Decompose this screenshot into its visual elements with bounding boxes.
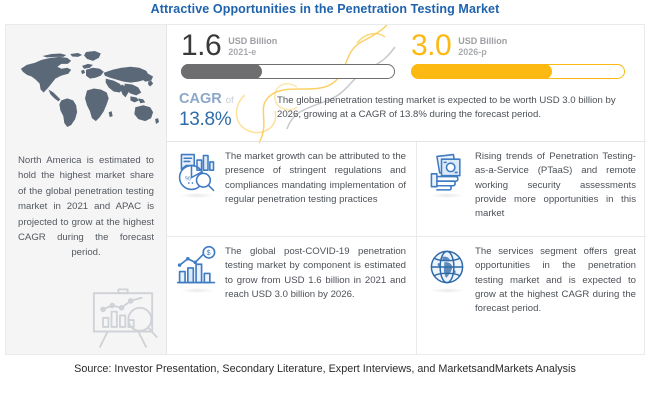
cagr-of-label: of [226,95,234,106]
insight-card-growth-text: The global post-COVID-19 penetration tes… [225,245,406,349]
cagr-box: CAGR of 13.8% [167,89,277,130]
stat-2026-value: 3.0 [411,31,451,61]
left-panel-description: North America is estimated to hold the h… [18,153,154,261]
insight-card-ptaas-text: Rising trends of Penetration Testing-as-… [475,150,636,230]
stat-2021-unit: USD Billion [228,36,277,47]
right-content-column: 1.6 USD Billion 2021-e 3.0 USD Billion 2… [166,25,645,354]
svg-text:$: $ [206,248,210,257]
cagr-label: CAGR [179,91,222,107]
cagr-value: 13.8% [179,109,277,130]
infographic-page: Attractive Opportunities in the Penetrat… [0,0,650,404]
world-map-icon [12,37,160,141]
progress-bar-2021-fill [181,64,262,79]
stat-2026: 3.0 USD Billion 2026-p [411,31,507,61]
svg-text:%: % [185,175,191,182]
content-frame: North America is estimated to hold the h… [5,24,645,355]
cagr-label-line: CAGR of [179,91,277,109]
stat-2026-year: 2026-p [458,47,507,58]
growth-bar-chart-dollar-icon: $ [175,245,219,289]
stat-2021: 1.6 USD Billion 2021-e [181,31,277,61]
insight-card-ptaas: Rising trends of Penetration Testing-as-… [417,142,646,237]
insight-card-growth: $ The global post-COVID-19 penetration t… [167,237,417,355]
stat-2021-year: 2021-e [228,47,277,58]
stat-2021-label: USD Billion 2021-e [228,31,277,58]
cagr-description: The global penetration testing market is… [277,89,646,123]
progress-bar-2026 [411,64,625,79]
presentation-chart-magnifier-icon [84,284,162,350]
stats-strip: 1.6 USD Billion 2021-e 3.0 USD Billion 2… [167,25,646,87]
insight-card-grid: % The market growth can be attributed to… [167,141,646,354]
insight-card-services: The services segment offers great opport… [417,237,646,355]
insight-card-regulations: % The market growth can be attributed to… [167,142,417,237]
source-footer: Source: Investor Presentation, Secondary… [0,361,650,377]
stat-2021-value: 1.6 [181,31,221,61]
progress-bar-2021 [181,64,395,79]
page-title: Attractive Opportunities in the Penetrat… [0,2,650,16]
cagr-row: CAGR of 13.8% The global penetration tes… [167,89,646,140]
stat-2026-label: USD Billion 2026-p [458,31,507,58]
insight-card-regulations-text: The market growth can be attributed to t… [225,150,406,230]
globe-icon [425,245,469,289]
insight-card-services-text: The services segment offers great opport… [475,245,636,349]
hand-holding-cash-icon [425,150,469,194]
stat-2026-unit: USD Billion [458,36,507,47]
left-panel: North America is estimated to hold the h… [6,25,166,354]
progress-bar-2026-fill [411,64,552,79]
market-analysis-percent-magnifier-icon: % [175,150,219,194]
